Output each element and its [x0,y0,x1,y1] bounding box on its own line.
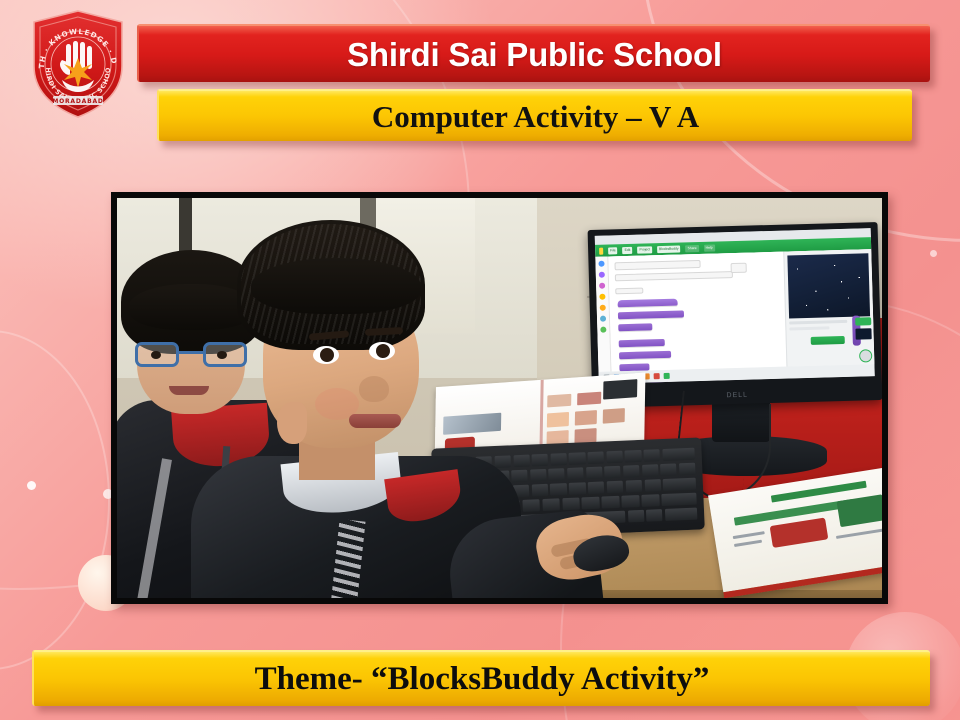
palette-category-looks[interactable] [599,272,605,278]
book-illustration [837,494,882,527]
block-forever[interactable] [618,310,684,319]
toolbar-menu-share[interactable]: Share [686,244,699,251]
student-nose [359,376,389,402]
stage-control-row[interactable] [789,320,847,325]
palette-category-motion[interactable] [598,261,604,267]
background-swoosh [0,330,110,670]
taskbar-app-icon[interactable] [664,373,670,379]
palette-category-sensing[interactable] [600,316,606,322]
canvas-section-label [615,288,643,295]
block-when-flag-clicked[interactable] [618,299,678,308]
background-dot [930,250,937,257]
theme-text: Theme- “BlocksBuddy Activity” [255,663,710,696]
school-name-text: Shirdi Sai Public School [347,38,722,71]
canvas-sprite-thumb[interactable] [731,263,747,273]
project-stage[interactable] [783,249,874,366]
activity-photo: File Edit Project BlocksBuddy Share Help [117,198,882,598]
background-dot [27,481,36,490]
student-eye [151,351,161,359]
toolbar-menu-help[interactable]: Help [704,244,715,251]
presentation-slide: FAITH · KNOWLEDGE · DUTY SHIRDI SAI PUBL… [0,0,960,720]
eyeglass-bridge [179,351,203,354]
toolbar-logo[interactable] [599,247,603,254]
book-text-line [836,528,882,539]
toolbar-menu-file[interactable]: File [608,247,618,254]
student-eye [369,342,395,360]
canvas-search-field[interactable] [614,260,700,270]
monitor-screen: File Edit Project BlocksBuddy Share Help [595,228,875,384]
palette-category-sound[interactable] [599,283,605,289]
book-illustration [547,412,569,428]
book-illustration [603,379,637,399]
block-move-steps[interactable] [618,323,652,331]
book-illustration [770,517,829,547]
theme-banner: Theme- “BlocksBuddy Activity” [32,650,930,706]
taskbar-app-icon[interactable] [654,373,660,379]
student-mouth [169,386,209,395]
toolbar-menu-edit[interactable]: Edit [623,246,633,253]
activity-photo-frame: File Edit Project BlocksBuddy Share Help [111,192,888,604]
palette-category-events[interactable] [599,294,605,300]
book-illustration [575,410,597,426]
book-illustration [547,394,571,408]
svg-text:MORADABAD: MORADABAD [52,98,103,105]
stage-control-row[interactable] [789,326,829,330]
blockcoding-workspace [595,249,874,372]
student-ear [277,402,307,444]
student-eyeglasses [135,342,247,368]
student-eye [217,351,227,359]
student-eye [313,346,339,364]
palette-category-operators[interactable] [600,327,606,333]
activity-title-banner: Computer Activity – V A [157,89,912,141]
palette-category-control[interactable] [600,305,606,311]
stage-green-button[interactable] [855,317,871,325]
stage-run-button[interactable] [811,336,845,345]
book-illustration [603,408,625,424]
school-name-banner: Shirdi Sai Public School [137,24,930,82]
student-mouth [349,414,401,428]
student-pupil [320,348,334,362]
activity-title-text: Computer Activity – V A [372,101,699,132]
stage-sprite-thumbnail[interactable] [855,328,871,339]
student-pupil [376,344,390,358]
block-if-on-edge-bounce[interactable] [619,351,671,359]
toolbar-project-name[interactable]: BlocksBuddy [657,245,681,253]
block-turn-degrees[interactable] [619,339,665,347]
stage-add-sprite-button[interactable] [859,349,872,362]
book-text-line [733,531,765,539]
student-fringe [251,258,421,314]
book-text-line [734,540,762,547]
book-illustration [577,392,601,406]
book-illustration [443,413,501,435]
canvas-hint-row [615,271,733,281]
toolbar-menu-project[interactable]: Project [637,246,652,253]
stage-backdrop-starry-sky [787,253,870,318]
script-canvas[interactable] [608,252,786,372]
school-crest-logo: FAITH · KNOWLEDGE · DUTY SHIRDI SAI PUBL… [26,8,130,120]
